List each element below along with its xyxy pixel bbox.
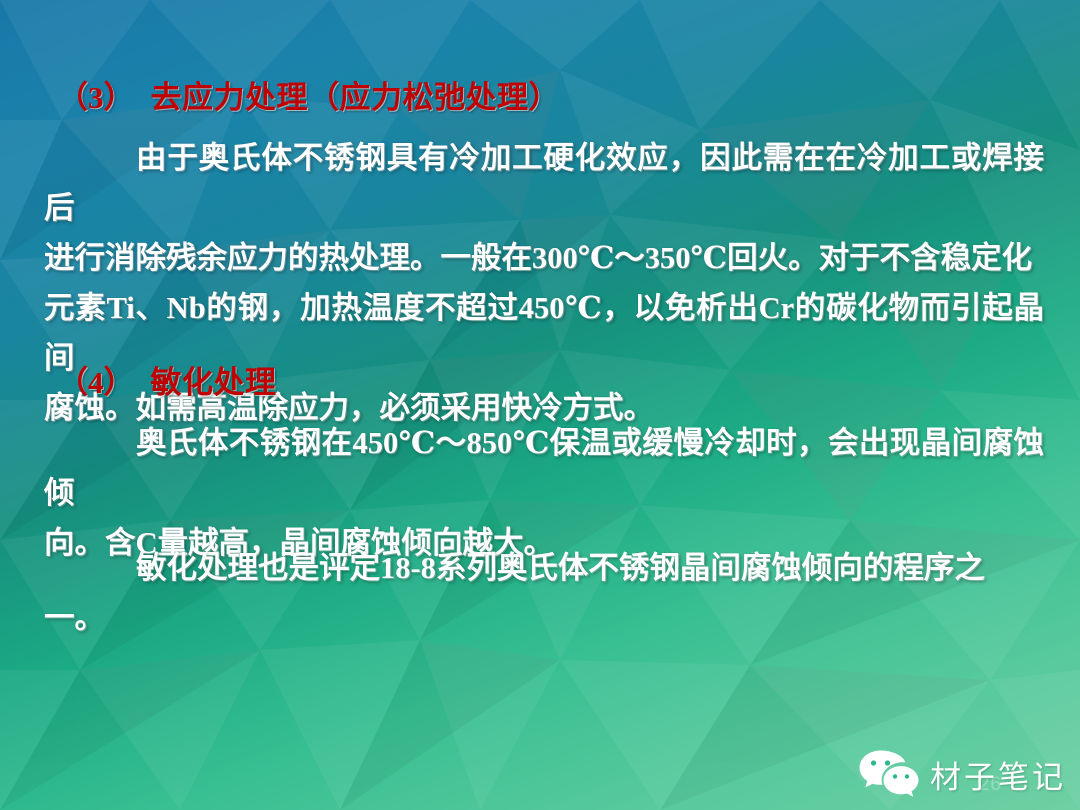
- section-4-paragraph-2: 敏化处理也是评定18-8系列奥氏体不锈钢晶间腐蚀倾向的程序之一。: [44, 543, 1044, 643]
- section-heading-3: （3）去应力处理（应力松弛处理）: [57, 72, 560, 117]
- section-heading-3-number: （3）: [57, 80, 135, 115]
- section-heading-4-number: （4）: [57, 365, 135, 400]
- wechat-watermark: 材子笔记: [858, 748, 1066, 800]
- section-3-line-1: 由于奥氏体不锈钢具有冷加工硬化效应，因此需在在冷加工或焊接后: [44, 141, 1044, 225]
- slide-content: （3）去应力处理（应力松弛处理） 由于奥氏体不锈钢具有冷加工硬化效应，因此需在在…: [0, 0, 1080, 810]
- section-heading-4-title: 敏化处理: [151, 365, 277, 400]
- section-heading-4: （4）敏化处理: [57, 357, 277, 402]
- section-4-line-1: 奥氏体不锈钢在450℃～850℃保温或缓慢冷却时，会出现晶间腐蚀倾: [44, 426, 1044, 510]
- section-3-line-2: 进行消除残余应力的热处理。一般在300℃～350℃回火。对于不含稳定化: [44, 241, 1032, 275]
- wechat-icon: [858, 748, 920, 800]
- slide-canvas: （3）去应力处理（应力松弛处理） 由于奥氏体不锈钢具有冷加工硬化效应，因此需在在…: [0, 0, 1080, 810]
- section-heading-3-title: 去应力处理（应力松弛处理）: [151, 80, 561, 115]
- watermark-label: 材子笔记: [930, 752, 1066, 797]
- section-4-line-3: 敏化处理也是评定18-8系列奥氏体不锈钢晶间腐蚀倾向的程序之一。: [44, 551, 985, 635]
